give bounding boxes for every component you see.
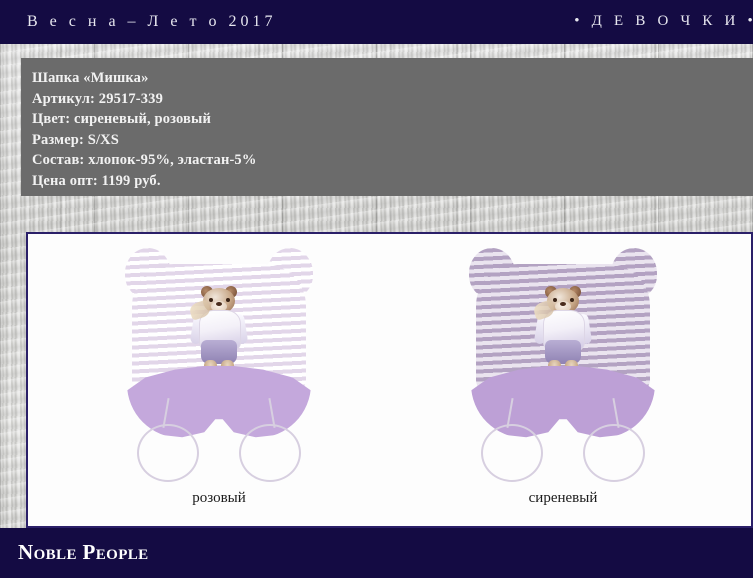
hat-tie-right [239, 424, 301, 482]
season-title: В е с н а – Л е т о 2017 [27, 13, 276, 31]
category-title: • Д Е В О Ч К И • [574, 13, 753, 30]
product-item-pink[interactable]: розовый [74, 238, 364, 524]
catalog-slide: В е с н а – Л е т о 2017 • Д Е В О Ч К И… [0, 0, 753, 578]
product-gallery-panel: розовый [26, 232, 753, 528]
hat-illustration [465, 248, 661, 448]
teddy-bear-print [190, 288, 248, 376]
product-row: розовый [28, 234, 751, 526]
product-price: Цена опт: 1199 руб. [32, 171, 753, 192]
teddy-bear-print [534, 288, 592, 376]
product-size: Размер: S/XS [32, 130, 753, 151]
hat-tie-left [481, 424, 543, 482]
hat-tie-right [583, 424, 645, 482]
product-article: Артикул: 29517-339 [32, 89, 753, 110]
hat-image-pink [74, 238, 364, 483]
product-colors: Цвет: сиреневый, розовый [32, 109, 753, 130]
product-item-lilac[interactable]: сиреневый [418, 238, 708, 524]
product-composition: Состав: хлопок-95%, эластан-5% [32, 150, 753, 171]
header-band: В е с н а – Л е т о 2017 • Д Е В О Ч К И… [0, 0, 753, 44]
product-caption-pink: розовый [74, 490, 364, 507]
hat-illustration [121, 248, 317, 448]
footer-band: Noble People [0, 528, 753, 578]
brand-logo: Noble People [18, 540, 149, 565]
hat-image-lilac [418, 238, 708, 483]
hat-tie-left [137, 424, 199, 482]
product-name: Шапка «Мишка» [32, 68, 753, 89]
product-caption-lilac: сиреневый [418, 490, 708, 507]
product-info-panel: Шапка «Мишка» Артикул: 29517-339 Цвет: с… [21, 58, 753, 196]
